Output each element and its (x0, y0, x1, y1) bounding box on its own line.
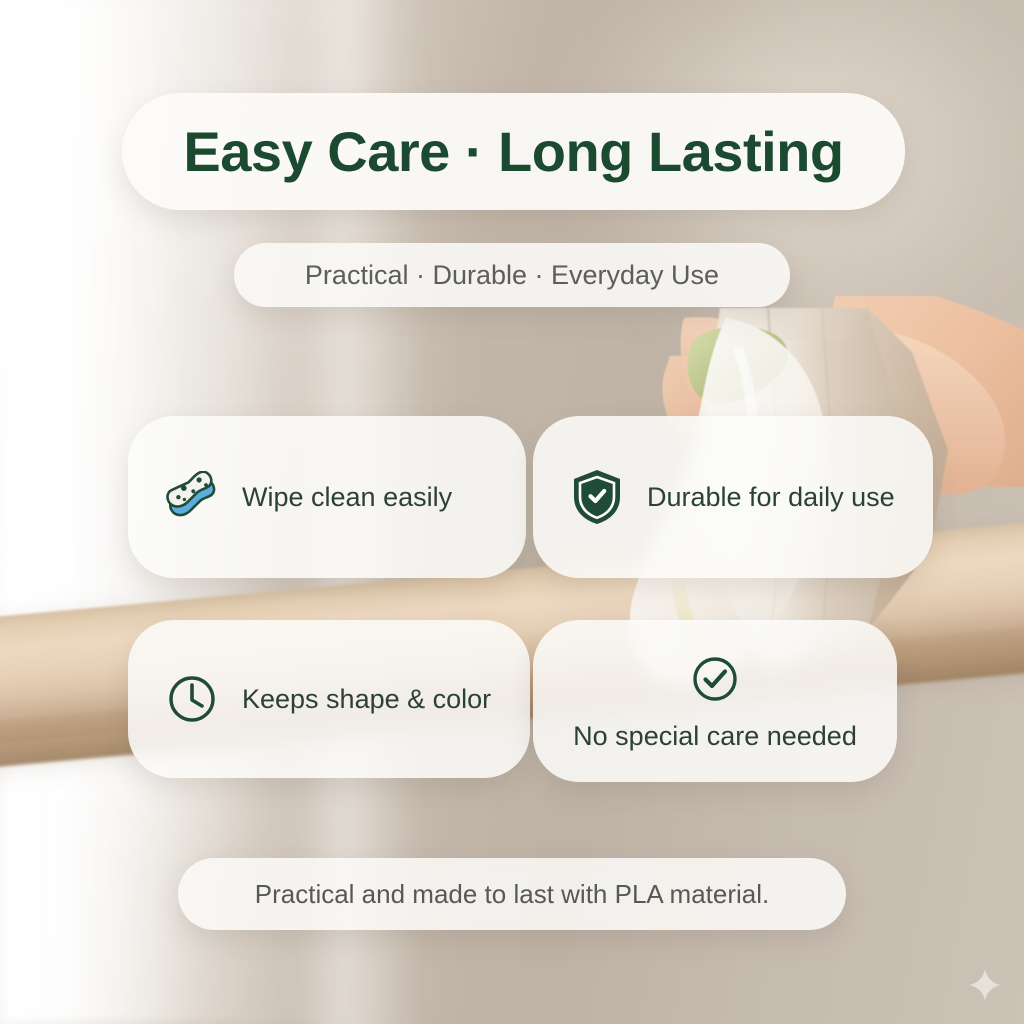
poster-canvas: Easy Care · Long Lasting Practical · Dur… (0, 0, 1024, 1024)
check-circle-icon (687, 651, 743, 707)
title-pill: Easy Care · Long Lasting (122, 93, 905, 210)
feature-card-wipe-clean[interactable]: Wipe clean easily (128, 416, 526, 578)
sponge-icon (164, 469, 220, 525)
shield-check-icon (569, 469, 625, 525)
feature-card-no-special-care[interactable]: No special care needed (533, 620, 897, 782)
sparkle-icon (968, 968, 1002, 1002)
feature-label: Wipe clean easily (242, 482, 452, 513)
page-subtitle: Practical · Durable · Everyday Use (305, 260, 719, 291)
page-title: Easy Care · Long Lasting (183, 119, 843, 184)
feature-card-durable[interactable]: Durable for daily use (533, 416, 933, 578)
feature-card-keeps-shape[interactable]: Keeps shape & color (128, 620, 530, 778)
feature-label: No special care needed (573, 721, 857, 752)
footer-text: Practical and made to last with PLA mate… (255, 879, 769, 910)
clock-icon (164, 671, 220, 727)
subtitle-pill: Practical · Durable · Everyday Use (234, 243, 790, 307)
feature-label: Keeps shape & color (242, 684, 491, 715)
feature-label: Durable for daily use (647, 482, 895, 513)
footer-pill: Practical and made to last with PLA mate… (178, 858, 846, 930)
